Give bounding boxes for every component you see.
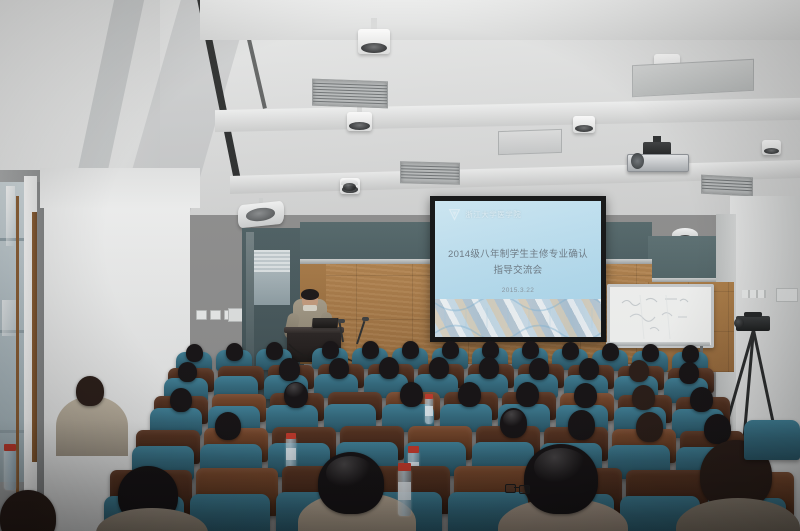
ceiling-projector: [627, 142, 687, 172]
glasses-lens-right: [519, 485, 530, 494]
whiteboard: [607, 284, 714, 348]
hair-highlight: [326, 456, 374, 490]
audience-head: [682, 345, 699, 363]
audience-head: [458, 382, 481, 407]
audience-head: [568, 410, 595, 440]
audience-head: [562, 342, 579, 360]
projector-lens-icon: [631, 153, 644, 170]
audience-head: [400, 382, 423, 407]
ceiling-speaker: [238, 198, 284, 226]
audience-head: [574, 383, 597, 408]
ceiling-band-upper: [200, 0, 800, 40]
dome-camera-lens-icon-3: [343, 183, 355, 191]
audience-head: [429, 357, 449, 379]
audience-head: [186, 344, 203, 362]
water-bottle-label: [398, 482, 411, 500]
glass-reflection-blind: [254, 250, 290, 272]
water-bottle-cap: [398, 463, 411, 471]
whiteboard-handwriting: [610, 287, 711, 345]
eyeglasses-icon: [505, 484, 539, 496]
audience-head: [329, 358, 349, 379]
projection-screen: 浙江大学医学院 2014级八年制学生主修专业确认 指导交流会 2015.3.22: [435, 201, 601, 337]
glasses-bridge: [514, 487, 520, 488]
audience-head: [362, 341, 379, 359]
hvac-vent-3: [701, 175, 753, 197]
water-bottle: [4, 450, 16, 490]
water-bottle-cap: [425, 394, 433, 399]
university-shield-logo-icon: [448, 208, 461, 221]
audience-head: [632, 385, 655, 410]
ceiling-access-panel-1: [498, 129, 562, 155]
audience-head: [704, 414, 731, 444]
hair-highlight: [503, 410, 525, 428]
hvac-vent-2: [400, 161, 460, 185]
water-bottle-label: [425, 406, 433, 416]
audience-head: [679, 362, 699, 384]
audience-head: [636, 412, 663, 442]
audience-head: [76, 376, 104, 406]
dna-helix-icon: [435, 299, 601, 337]
hair-highlight: [534, 448, 588, 486]
ceiling-downlight-5: [762, 140, 781, 155]
audience-head: [579, 358, 599, 380]
water-bottle-cap: [4, 444, 16, 451]
audience-head: [516, 382, 539, 407]
slide-title-line1: 2014级八年制学生主修专业确认: [435, 246, 601, 260]
right-wall-outlets: [742, 290, 766, 298]
water-bottle-label: [286, 448, 296, 460]
presenter-hair: [301, 289, 319, 300]
dome-camera-3: [341, 179, 358, 192]
outlet-2[interactable]: [210, 310, 221, 320]
audience-head: [602, 343, 619, 361]
water-bottle-cap: [286, 433, 296, 439]
seat-back: [744, 420, 800, 460]
outlet-1[interactable]: [196, 310, 207, 320]
audience-head: [322, 341, 339, 359]
audience-head: [215, 412, 241, 440]
ceiling-downlight-2: [347, 112, 372, 131]
slide-university-logo: 浙江大学医学院: [448, 208, 521, 221]
right-wall-sign: [776, 288, 798, 302]
audience-head: [690, 387, 713, 412]
audience-head: [642, 344, 659, 362]
audience-head: [442, 341, 459, 359]
presenter-collar: [303, 305, 317, 311]
door-jamb: [32, 212, 37, 462]
slide-title-line2: 指导交流会: [435, 262, 601, 276]
lecture-hall-photo: 浙江大学医学院 2014级八年制学生主修专业确认 指导交流会 2015.3.22: [0, 0, 800, 531]
slide-date: 2015.3.22: [435, 287, 601, 294]
audience-head: [479, 357, 499, 379]
audience-head: [279, 358, 300, 381]
water-bottle-cap: [408, 446, 419, 453]
slide-footer-image: [435, 299, 601, 337]
microphone-head-icon: [362, 317, 369, 321]
audience-head: [226, 343, 243, 361]
glasses-lens-left: [505, 484, 516, 493]
white-wall-upper-left: [40, 168, 200, 208]
ceiling-access-panel-2: [632, 59, 754, 97]
hvac-vent-1: [312, 79, 388, 109]
audience-head: [529, 358, 549, 380]
audience-head: [178, 362, 197, 382]
video-camera-lens-icon: [734, 318, 744, 328]
slide-university-name: 浙江大学医学院: [465, 209, 521, 220]
audience-head: [402, 341, 419, 359]
audience-head: [170, 388, 192, 412]
laptop-screen: [313, 318, 337, 328]
video-camera-handle: [744, 312, 762, 317]
audience-head: [629, 360, 649, 382]
audience-head: [379, 357, 399, 379]
ceiling-downlight-3: [573, 116, 595, 133]
audience-head: [266, 342, 283, 360]
ceiling-downlight-1: [358, 29, 390, 54]
audience-head: [522, 341, 539, 359]
microphone-head-icon-2: [338, 319, 345, 323]
hair-highlight: [286, 383, 306, 399]
